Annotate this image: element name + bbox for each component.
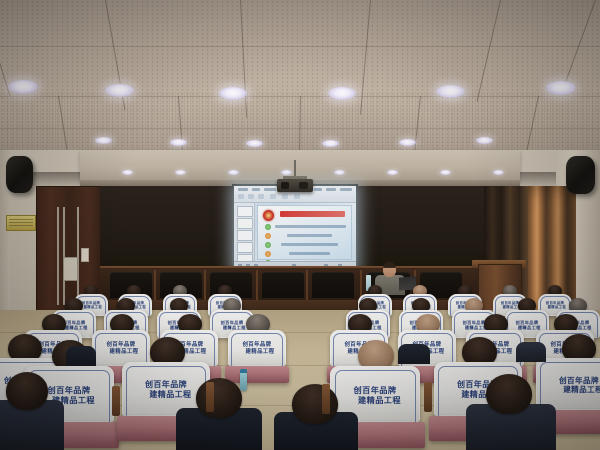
audience-head-foreground: [196, 378, 242, 418]
audience-seat: 创百年品牌 建精品工程: [536, 358, 600, 410]
bullet-text-line: [287, 234, 332, 237]
soffit-downlight: [175, 170, 186, 175]
chair-cover-line1: 创百年品牌: [559, 376, 599, 385]
presenter-head: [383, 262, 396, 277]
chair-cover-line2: 建精品工程: [538, 305, 572, 309]
projector-vent-icon: [299, 182, 308, 189]
head-table-divider: [306, 270, 308, 300]
audience-seat: 创百年品牌 建精品工程: [228, 330, 286, 366]
slide-thumbnail[interactable]: [237, 230, 253, 241]
bullet-dot-icon: [265, 233, 271, 239]
chair-cover-line1: 创百年品牌: [354, 385, 397, 395]
audience-seat: 创百年品牌 建精品工程: [92, 330, 150, 366]
slide-bullet-row: [265, 251, 346, 257]
ceiling-downlight: [8, 80, 38, 94]
slide-bullet-row: [265, 233, 346, 239]
soffit-downlight: [440, 170, 451, 175]
bullet-text-line: [289, 252, 330, 255]
projected-image: [234, 186, 356, 270]
light-switch[interactable]: [81, 248, 89, 262]
chair-cover-line2: 建精品工程: [228, 349, 286, 356]
wall-plaque: [6, 215, 36, 231]
projector-lens-icon: [281, 182, 289, 189]
audience-head-foreground: [6, 372, 48, 410]
chair-cover-line2: 建精品工程: [505, 325, 549, 330]
chair-cover-line1: 创百年品牌: [516, 320, 539, 325]
ceiling-downlight: [95, 137, 112, 144]
slide-thumbnail-pane[interactable]: [234, 203, 255, 262]
chair-cover-text: 创百年品牌 建精品工程: [330, 385, 420, 405]
bullet-dot-icon: [265, 251, 271, 257]
plaque-line: [9, 222, 33, 223]
slide-thumbnail[interactable]: [237, 206, 253, 217]
head-table-divider: [154, 270, 156, 300]
ceiling-downlight: [436, 85, 465, 98]
red-round-emblem-icon: [263, 210, 274, 221]
chair-cover-text: 创百年品牌 建精品工程: [92, 342, 150, 355]
audience-head-foreground: [486, 374, 532, 414]
wall-speaker-left-icon: [6, 156, 33, 193]
ceiling: [0, 0, 600, 172]
chair-cover-line2: 建精品工程: [330, 395, 420, 405]
chair-cover-line1: 创百年品牌: [221, 320, 244, 325]
front-wall-panel-left: [100, 186, 232, 270]
chair-armrest: [206, 382, 214, 412]
ceiling-downlight: [328, 87, 356, 100]
slide-bullet-row: [265, 224, 346, 230]
water-bottle: [240, 372, 247, 391]
soffit-downlight: [334, 170, 345, 175]
slide-title-bar: [280, 211, 345, 217]
front-wall-panel-right: [356, 186, 484, 270]
chair-cover-line2: 建精品工程: [92, 349, 150, 356]
ceiling-downlight: [322, 140, 339, 147]
conference-hall-photo: 创百年品牌 建精品工程 创百年品牌 建精品工程 创百年品牌 建精品工程 创百年品…: [0, 0, 600, 450]
soffit-downlight: [122, 170, 133, 175]
chair-cover-line1: 创百年品牌: [243, 342, 272, 348]
chair-cover: 创百年品牌 建精品工程: [536, 358, 600, 410]
chair-seat-body: [225, 366, 290, 383]
door-push-plate[interactable]: [63, 257, 78, 281]
plaque-line: [9, 219, 33, 220]
ceiling-downlight: [105, 84, 134, 97]
chair-cover-line1: 创百年品牌: [463, 320, 486, 325]
ceiling-projector: [277, 179, 313, 192]
slide-bullet-row: [265, 242, 346, 248]
soffit-downlight: [228, 170, 239, 175]
ceiling-downlight: [170, 139, 187, 146]
head-table-divider: [204, 270, 206, 300]
bullet-dot-icon: [265, 242, 271, 248]
audience-shoulders: [398, 344, 430, 364]
chair-cover-line1: 创百年品牌: [48, 385, 91, 395]
ceiling-rail: [0, 46, 600, 47]
ceiling-downlight: [546, 81, 576, 95]
head-table-divider: [256, 270, 258, 300]
ceiling-downlight: [219, 87, 247, 100]
chair-cover-line1: 创百年品牌: [145, 380, 187, 389]
soffit-downlight: [281, 170, 292, 175]
slide-thumbnail[interactable]: [237, 218, 253, 229]
chair-cover-text: 创百年品牌 建精品工程: [538, 301, 572, 309]
audience-shoulders: [66, 346, 96, 366]
audience-head-foreground: [292, 384, 338, 424]
soffit-downlight: [387, 170, 398, 175]
ceiling-downlight: [476, 137, 493, 144]
water-bottle-cap: [240, 369, 247, 373]
slide-thumbnail[interactable]: [237, 242, 253, 253]
ceiling-downlight: [399, 139, 416, 146]
ceiling-downlight: [246, 140, 263, 147]
chair-cover-line2: 建精品工程: [536, 385, 600, 394]
plaque-line: [9, 225, 33, 226]
door-handle-bar[interactable]: [57, 207, 59, 304]
chair-cover-text: 创百年品牌 建精品工程: [505, 320, 549, 330]
chair-armrest: [322, 384, 330, 414]
bullet-text-line: [281, 243, 338, 246]
head-table-chair: [262, 272, 304, 298]
soffit-downlight: [493, 170, 504, 175]
chair-armrest: [424, 382, 432, 412]
head-table-chair: [312, 272, 354, 298]
wall-speaker-right-icon: [566, 156, 595, 194]
chair-cover: 创百年品牌 建精品工程: [92, 330, 150, 366]
bullet-dot-icon: [265, 224, 271, 230]
chair-cover: 创百年品牌 建精品工程: [228, 330, 286, 366]
audience-shoulders: [516, 342, 546, 362]
chair-cover-text: 创百年品牌 建精品工程: [536, 376, 600, 395]
chair-armrest: [112, 386, 120, 416]
chair-cover-text: 创百年品牌 建精品工程: [228, 342, 286, 355]
projection-screen: [232, 184, 358, 272]
active-slide: [257, 205, 352, 260]
bullet-text-line: [275, 225, 346, 228]
chair-cover-line1: 创百年品牌: [107, 342, 136, 348]
